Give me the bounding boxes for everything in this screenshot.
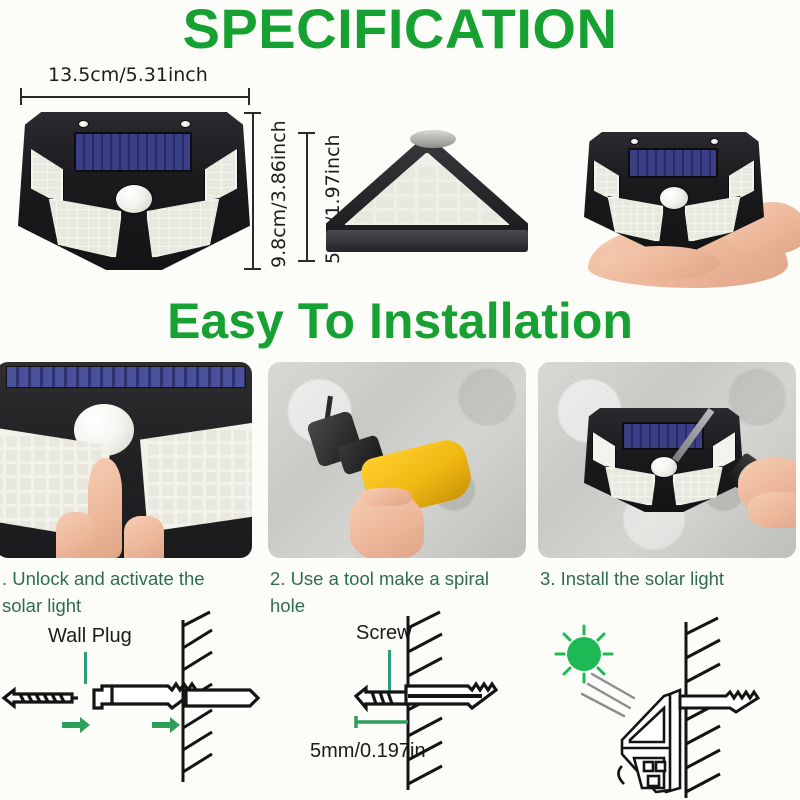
step1-led-right bbox=[140, 422, 252, 532]
step2-finger bbox=[360, 488, 412, 506]
mounting-hole-right bbox=[180, 120, 191, 128]
solar-panel-hand bbox=[628, 148, 718, 178]
solar-panel bbox=[74, 132, 192, 172]
dimension-cap-right bbox=[248, 88, 250, 105]
pir-motion-sensor bbox=[115, 184, 153, 214]
screw-diameter-bracket bbox=[356, 716, 408, 728]
product-side-profile-view bbox=[318, 130, 536, 262]
mount-plug bbox=[680, 692, 758, 712]
product-in-hand-view bbox=[560, 110, 800, 290]
step-1-photo bbox=[0, 362, 252, 558]
mounted-light-sun-diagram bbox=[530, 612, 800, 800]
dimension-cap-left bbox=[20, 88, 22, 105]
step-2-photo bbox=[268, 362, 526, 558]
step-3-photo bbox=[538, 362, 796, 558]
screw-shape-left bbox=[4, 690, 78, 706]
product-front-view bbox=[18, 112, 250, 270]
dimension-line-width bbox=[20, 96, 250, 98]
plug-inserted-in-wall bbox=[186, 690, 258, 706]
dimension-line-height bbox=[252, 112, 254, 270]
mounting-hole-right-hand bbox=[710, 138, 719, 145]
insert-arrow-1 bbox=[62, 717, 90, 733]
step-3-caption: 3. Install the solar light bbox=[540, 566, 790, 593]
section-title-installation: Easy To Installation bbox=[0, 292, 800, 350]
step1-solar-panel bbox=[6, 366, 246, 388]
step1-finger-2 bbox=[56, 512, 96, 558]
product-specification-page: SPECIFICATION 13.5cm/5.31inch 9.8cm/3.86… bbox=[0, 0, 800, 800]
dimension-label-width: 13.5cm/5.31inch bbox=[48, 64, 208, 86]
mounting-hole-left bbox=[78, 120, 89, 128]
insert-arrow-2 bbox=[152, 717, 180, 733]
wall-plug-shape bbox=[94, 684, 196, 708]
profile-base bbox=[326, 230, 528, 252]
hand-fingers bbox=[600, 246, 720, 280]
step3-mounted-lamp bbox=[584, 408, 744, 512]
screw-shape-right bbox=[356, 688, 408, 708]
dimension-label-height: 9.8cm/3.86inch bbox=[268, 120, 290, 268]
profile-top-edge bbox=[410, 130, 456, 148]
page-title-specification: SPECIFICATION bbox=[0, 0, 800, 61]
dimension-cap-depth-bottom bbox=[298, 260, 315, 262]
sunlight-rays bbox=[582, 674, 634, 716]
step3-wrist bbox=[748, 492, 796, 528]
mounting-hole-left-hand bbox=[630, 138, 639, 145]
dimension-line-depth bbox=[306, 132, 308, 262]
lamp-in-hand bbox=[584, 132, 764, 250]
dimension-cap-depth-top bbox=[298, 132, 315, 134]
step1-finger-3 bbox=[124, 516, 164, 558]
screw-into-wall-diagram bbox=[300, 610, 530, 800]
sun-icon bbox=[556, 626, 612, 682]
